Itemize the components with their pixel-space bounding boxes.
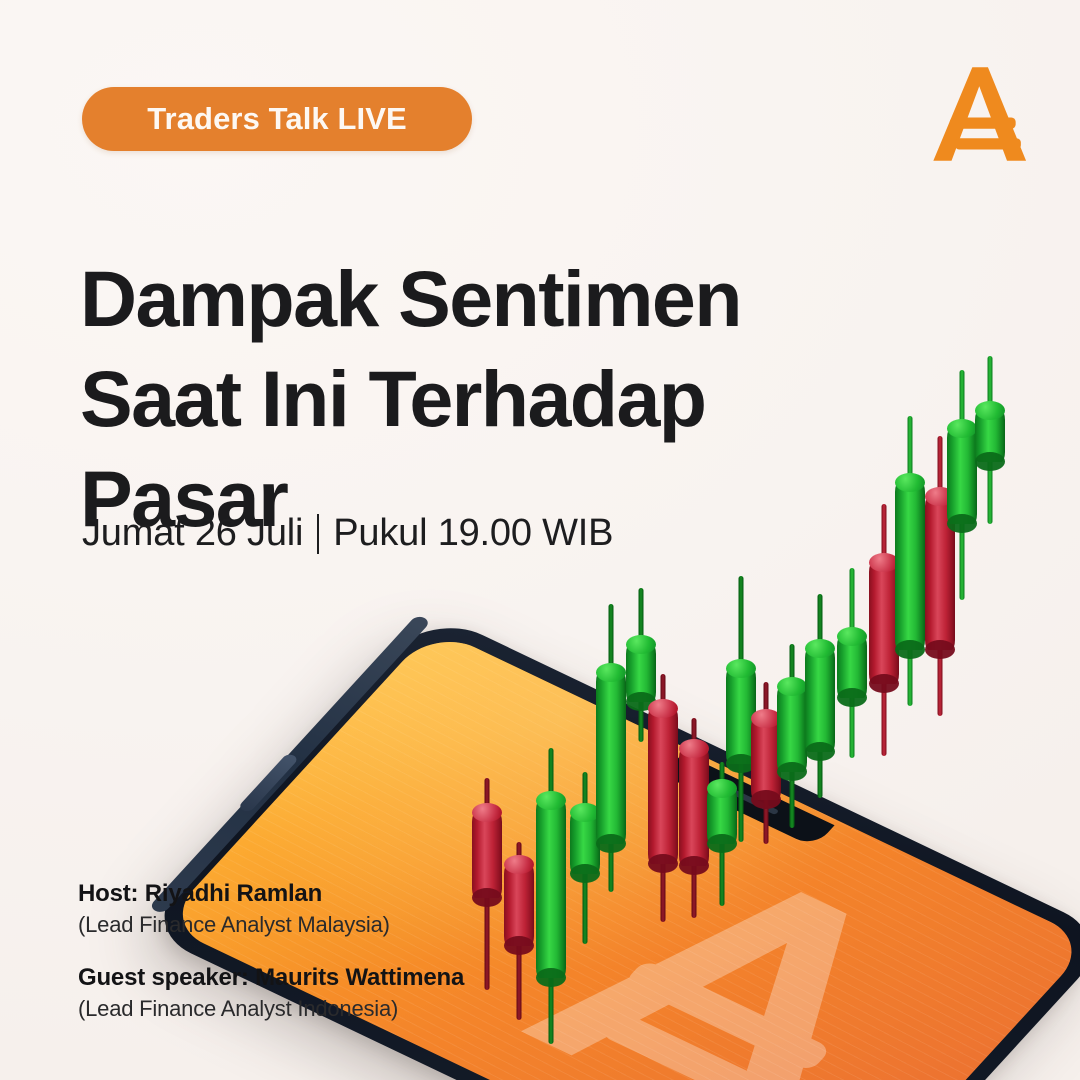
speaker-credits: Host: Riyadhi Ramlan (Lead Finance Analy… — [78, 880, 464, 1022]
credit-host: Host: Riyadhi Ramlan (Lead Finance Analy… — [78, 880, 464, 938]
credit-guest: Guest speaker: Maurits Wattimena (Lead F… — [78, 964, 464, 1022]
host-role: (Lead Finance Analyst Malaysia) — [78, 912, 464, 938]
poster-canvas: Traders Talk LIVE Dampak Sentimen Saat I… — [0, 0, 1080, 1080]
host-name: Host: Riyadhi Ramlan — [78, 880, 464, 908]
guest-name: Guest speaker: Maurits Wattimena — [78, 964, 464, 992]
guest-role: (Lead Finance Analyst Indonesia) — [78, 996, 464, 1022]
